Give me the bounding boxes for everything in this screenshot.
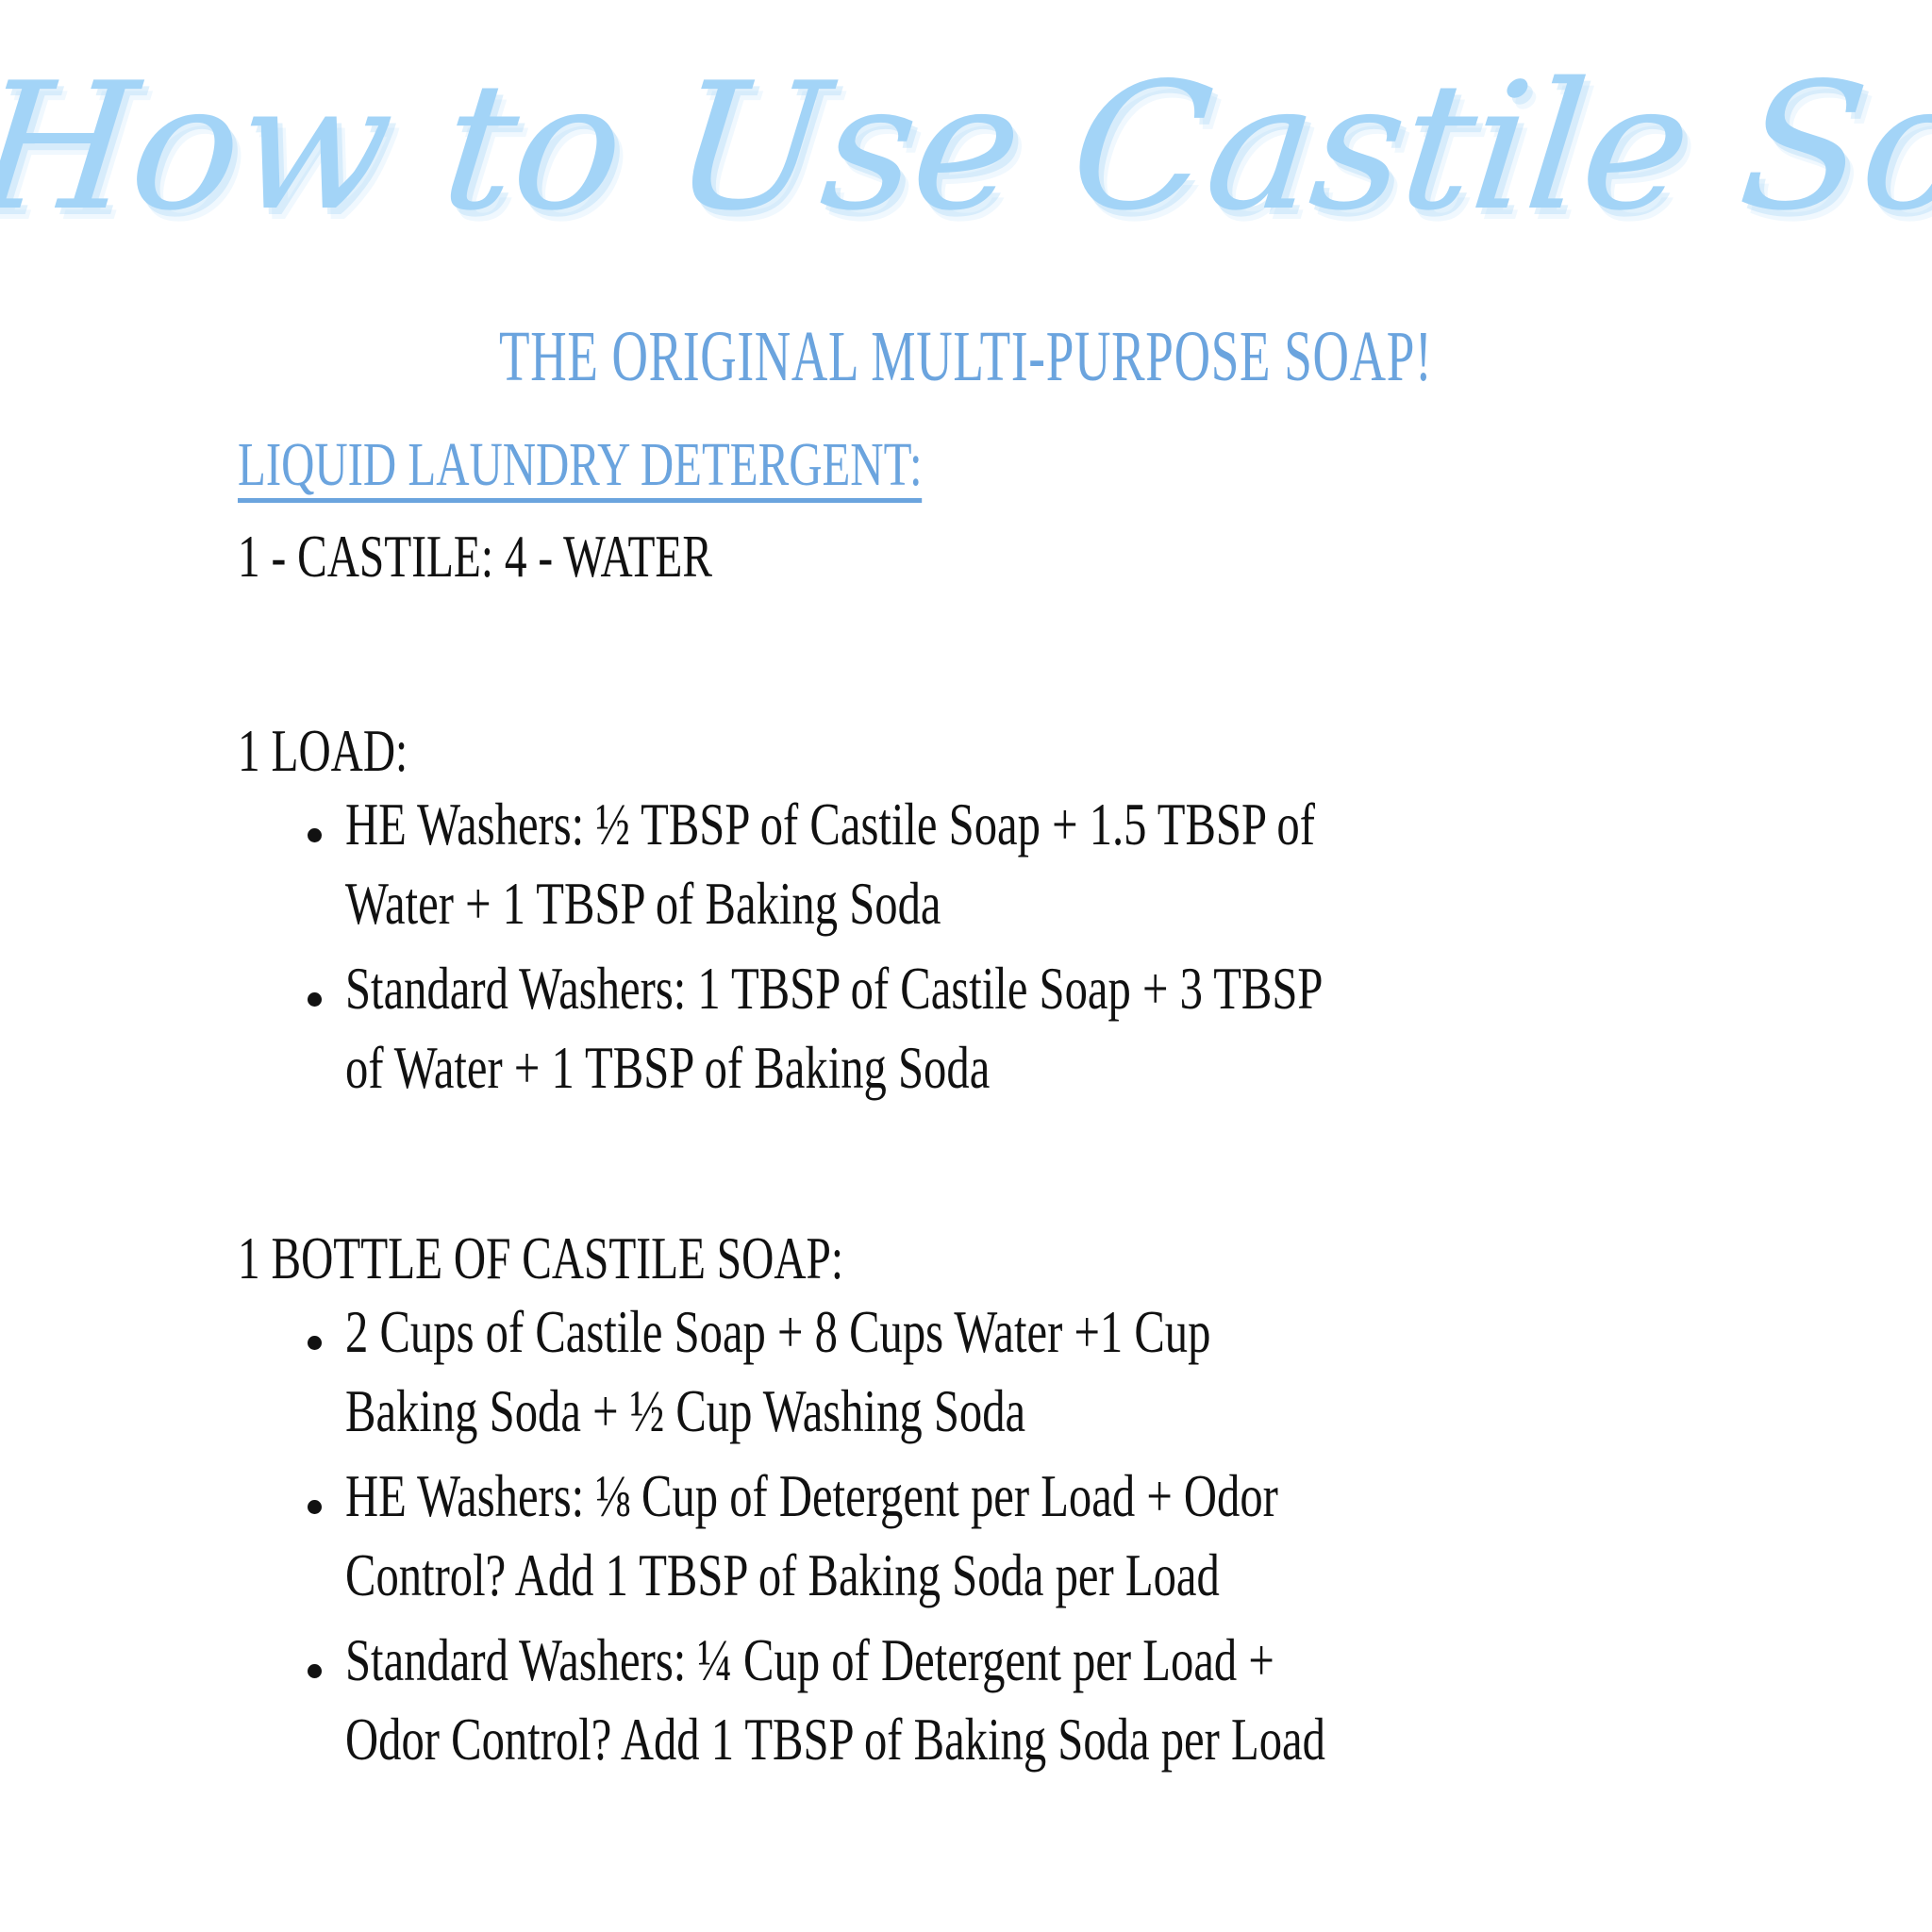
list-item: Standard Washers: 1 TBSP of Castile Soap… bbox=[300, 958, 1804, 1117]
bullet-line: Baking Soda + ½ Cup Washing Soda bbox=[345, 1381, 1804, 1460]
subheading-one-bottle-label: 1 BOTTLE OF CASTILE SOAP: bbox=[238, 1228, 843, 1289]
list-item: 2 Cups of Castile Soap + 8 Cups Water +1… bbox=[300, 1302, 1804, 1460]
bullet-text: Water + 1 TBSP of Baking Soda bbox=[345, 874, 941, 934]
list-item: Standard Washers: ¼ Cup of Detergent per… bbox=[300, 1630, 1804, 1789]
bullet-list-one-load: HE Washers: ½ TBSP of Castile Soap + 1.5… bbox=[238, 794, 1804, 1117]
subheading-one-bottle: 1 BOTTLE OF CASTILE SOAP: bbox=[238, 1228, 1804, 1302]
bullet-line: Standard Washers: ¼ Cup of Detergent per… bbox=[345, 1630, 1804, 1709]
bullet-line: 2 Cups of Castile Soap + 8 Cups Water +1… bbox=[345, 1302, 1804, 1381]
ratio-line: 1 - CASTILE: 4 - WATER bbox=[238, 526, 1804, 596]
page-subtitle-container: THE ORIGINAL MULTI-PURPOSE SOAP! bbox=[0, 321, 1932, 392]
bullet-text: HE Washers: ½ TBSP of Castile Soap + 1.5… bbox=[345, 794, 1315, 855]
bullet-text: Standard Washers: ¼ Cup of Detergent per… bbox=[345, 1630, 1274, 1690]
subheading-one-load-label: 1 LOAD: bbox=[238, 721, 408, 781]
bullet-line: Standard Washers: 1 TBSP of Castile Soap… bbox=[345, 958, 1804, 1038]
bullet-text: Control? Add 1 TBSP of Baking Soda per L… bbox=[345, 1545, 1220, 1606]
bullet-line: Water + 1 TBSP of Baking Soda bbox=[345, 874, 1804, 953]
spacer-1 bbox=[238, 596, 1804, 721]
content-body: LIQUID LAUNDRY DETERGENT: 1 - CASTILE: 4… bbox=[238, 434, 1804, 1794]
bullet-list-one-bottle: 2 Cups of Castile Soap + 8 Cups Water +1… bbox=[238, 1302, 1804, 1789]
ratio-line-label: 1 - CASTILE: 4 - WATER bbox=[238, 526, 712, 587]
list-item: HE Washers: ⅛ Cup of Detergent per Load … bbox=[300, 1466, 1804, 1624]
bullet-text: HE Washers: ⅛ Cup of Detergent per Load … bbox=[345, 1466, 1278, 1526]
bullet-text: Standard Washers: 1 TBSP of Castile Soap… bbox=[345, 958, 1323, 1019]
bullet-line: HE Washers: ½ TBSP of Castile Soap + 1.5… bbox=[345, 794, 1804, 874]
bullet-line: of Water + 1 TBSP of Baking Soda bbox=[345, 1038, 1804, 1117]
spacer-2 bbox=[238, 1123, 1804, 1228]
page-title: How to Use Castile Soap bbox=[0, 55, 1932, 239]
bullet-line: HE Washers: ⅛ Cup of Detergent per Load … bbox=[345, 1466, 1804, 1545]
section-heading-liquid-laundry-detergent: LIQUID LAUNDRY DETERGENT: bbox=[238, 434, 1804, 502]
section-heading-label: LIQUID LAUNDRY DETERGENT: bbox=[238, 434, 923, 503]
bullet-line: Control? Add 1 TBSP of Baking Soda per L… bbox=[345, 1545, 1804, 1624]
list-item: HE Washers: ½ TBSP of Castile Soap + 1.5… bbox=[300, 794, 1804, 953]
bullet-text: Baking Soda + ½ Cup Washing Soda bbox=[345, 1381, 1025, 1441]
bullet-line: Odor Control? Add 1 TBSP of Baking Soda … bbox=[345, 1709, 1804, 1789]
page-title-container: How to Use Castile Soap bbox=[0, 55, 1932, 239]
bullet-text: 2 Cups of Castile Soap + 8 Cups Water +1… bbox=[345, 1302, 1210, 1362]
bullet-text: of Water + 1 TBSP of Baking Soda bbox=[345, 1038, 990, 1098]
page-subtitle: THE ORIGINAL MULTI-PURPOSE SOAP! bbox=[499, 321, 1432, 392]
subheading-one-load: 1 LOAD: bbox=[238, 721, 1804, 794]
bullet-text: Odor Control? Add 1 TBSP of Baking Soda … bbox=[345, 1709, 1325, 1770]
poster-page: How to Use Castile Soap THE ORIGINAL MUL… bbox=[0, 0, 1932, 1932]
